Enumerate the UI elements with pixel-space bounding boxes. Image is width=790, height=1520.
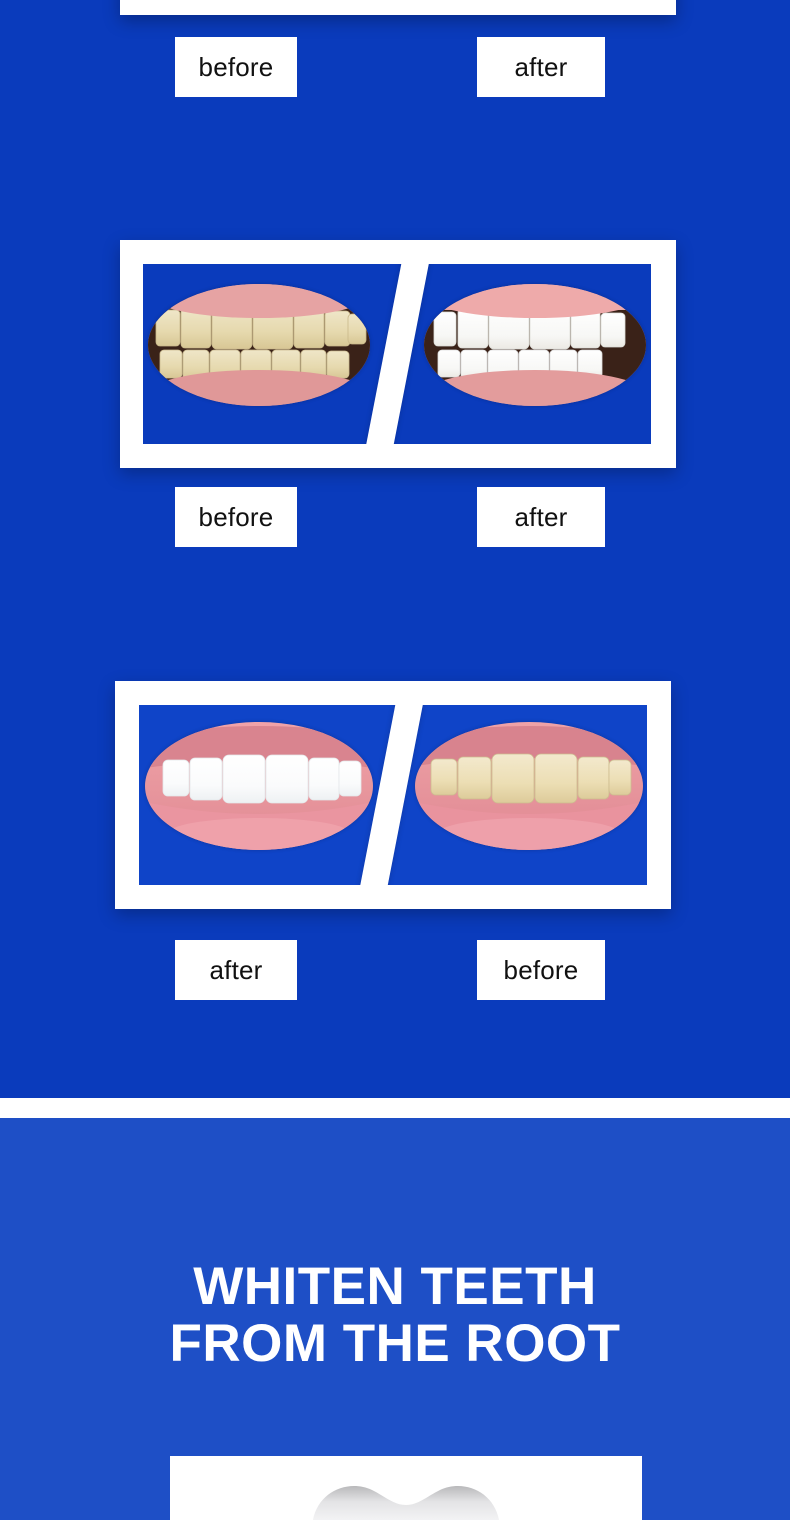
promo-heading-line-1: WHITEN TEETH bbox=[0, 1258, 790, 1315]
comparison-card-2-photo-panel bbox=[143, 264, 651, 444]
comparison-card-1-frame[interactable] bbox=[120, 0, 676, 15]
comparison-2-right-photo bbox=[424, 284, 646, 406]
comparison-card-3-frame[interactable] bbox=[115, 681, 671, 909]
comparison-1-right-label: after bbox=[477, 37, 605, 97]
promo-heading: WHITEN TEETH FROM THE ROOT bbox=[0, 1258, 790, 1372]
comparison-3-left-label: after bbox=[175, 940, 297, 1000]
comparison-3-right-label: before bbox=[477, 940, 605, 1000]
comparison-2-diagonal-separator bbox=[362, 264, 432, 444]
comparison-2-left-photo bbox=[148, 284, 370, 406]
comparison-2-left-label: before bbox=[175, 487, 297, 547]
before-after-gallery-section: before after bbox=[0, 0, 790, 1098]
page-root: before after bbox=[0, 0, 790, 1520]
promo-heading-line-2: FROM THE ROOT bbox=[0, 1315, 790, 1372]
comparison-card-3-photo-panel bbox=[139, 705, 647, 885]
comparison-1-left-label: before bbox=[175, 37, 297, 97]
tooth-illustration-icon bbox=[170, 1460, 642, 1520]
comparison-card-2-frame[interactable] bbox=[120, 240, 676, 468]
section-divider bbox=[0, 1098, 790, 1118]
promo-product-panel[interactable] bbox=[170, 1456, 642, 1520]
comparison-3-left-photo bbox=[145, 722, 373, 850]
comparison-3-right-photo bbox=[415, 722, 643, 850]
comparison-2-right-label: after bbox=[477, 487, 605, 547]
